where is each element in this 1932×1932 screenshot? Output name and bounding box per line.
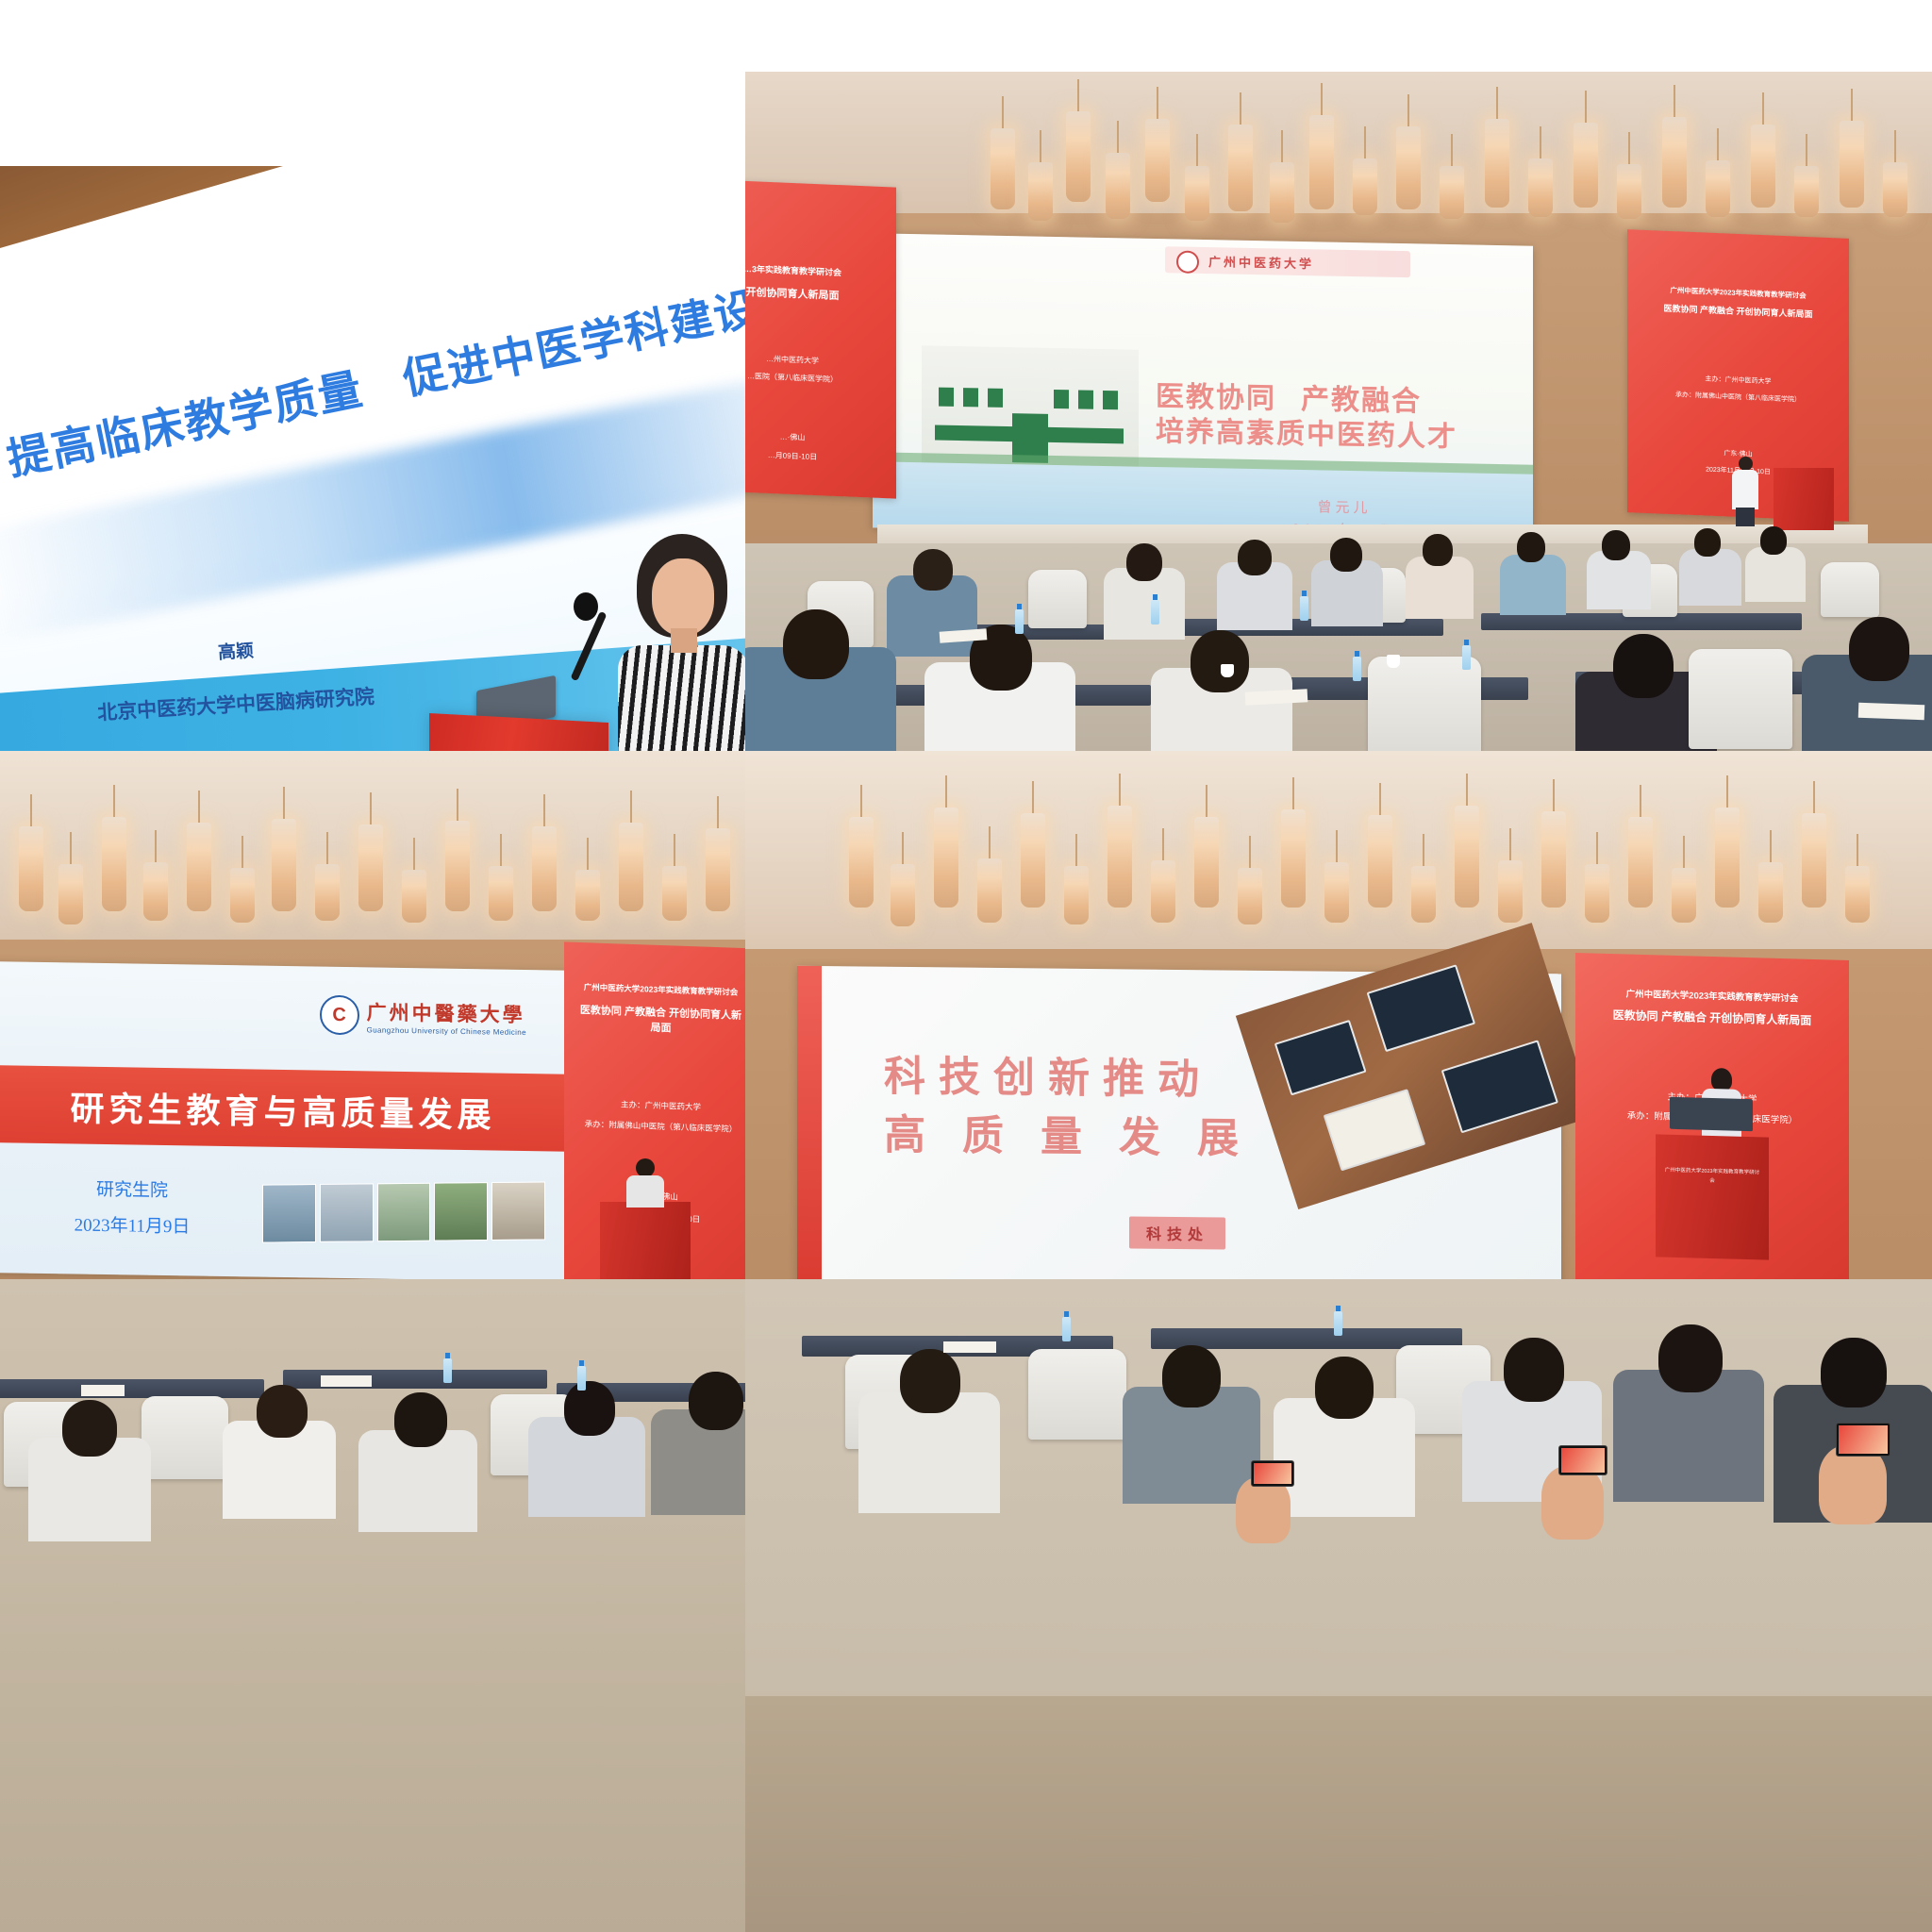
panel-bottom-right-technology-innovation: 科技创新推动 高 质 量 发 展 科技处 广州中医药大学2023年实践教育教学研… [745,751,1932,1932]
podium-red: 广州中医药大学2023年实践教育教学研讨会 [1656,1134,1769,1259]
panel-bottom-left-graduate-education: C 广州中醫藥大學 Guangzhou University of Chines… [0,751,745,1932]
podium-laptop [1670,1097,1753,1131]
left-banner-line-6: …月09日-10日 [745,447,879,465]
left-banner-line-4: …医院（第八临床医学院） [745,369,879,387]
left-banner-line-2: 开创协同育人新局面 [745,282,879,305]
left-banner-line-5: …·佛山 [745,428,879,446]
headline-line-2: 产教融合 [1301,384,1422,417]
stage-projection-screen: 广州中医药大学 医教协同产教融合 培养高素质中医药人才 曾元儿 2023年11月 [873,233,1533,540]
stage-podium [1774,468,1834,530]
banner-line-1: 广州中医药大学2023年实践教育教学研讨会 [1645,284,1831,302]
panel-top-left-lecture-slide: 提高临床教学质量促进中医学科建设 高颖 北京中医药大学中医脑病研究院 北京中医药… [0,166,745,751]
screen-logo-text: 广州中医药大学 [1208,252,1314,272]
slide-title: 研究生教育与高质量发展 [0,1080,575,1139]
banner-line-2: 医教协同 产教融合 开创协同育人新局面 [575,1002,745,1038]
audience-area [0,1279,745,1932]
banner-line-4: 承办：附属佛山中医院（第八临床医学院） [1645,389,1831,406]
presenter-figure [618,534,745,751]
presenter-striped-jacket [618,645,745,751]
raised-hand [1819,1445,1887,1524]
university-logo: C 广州中醫藥大學 Guangzhou University of Chines… [320,995,526,1038]
screen-headline: 医教协同产教融合 培养高素质中医药人才 [1156,380,1505,456]
logo-english-name: Guangzhou University of Chinese Medicine [367,1025,526,1037]
campus-thumb-1 [262,1184,316,1243]
headline-line-3: 培养高素质中医药人才 [1156,416,1457,453]
slide-title-line-2: 高 质 量 发 展 [884,1106,1252,1168]
smartphone [1251,1460,1294,1487]
slide-red-stripe [797,966,822,1296]
slide-date: 2023年11月9日 [19,1207,245,1247]
microphone-head [574,592,598,621]
slide-department: 研究生院 [19,1172,245,1211]
campus-thumbnail-strip [262,1181,545,1242]
banner-line-1: 广州中医药大学2023年实践教育教学研讨会 [1591,986,1832,1006]
smartphone [1558,1445,1607,1475]
banner-line-2: 医教协同 产教融合 开创协同育人新局面 [1591,1006,1832,1028]
panel-top-right-auditorium: 广州中医药大学 医教协同产教融合 培养高素质中医药人才 曾元儿 2023年11月 [745,72,1932,751]
logo-chinese-name: 广州中醫藥大學 [367,997,526,1028]
banner-line-2: 医教协同 产教融合 开创协同育人新局面 [1645,301,1831,321]
raised-hand [1541,1466,1604,1540]
left-banner-line-1: …3年实践教育教学研讨会 [745,260,879,280]
campus-thumb-5 [491,1181,545,1241]
banner-line-3: 主办：广州中医药大学 [575,1097,745,1114]
headline-line-1: 医教协同 [1156,381,1276,414]
stage-speaker-figure [626,1158,664,1206]
left-banner-line-3: …州中医药大学 [745,351,879,369]
university-seal-icon: C [320,995,359,1036]
slide-department-tag: 科技处 [1129,1216,1225,1249]
slide-title: 科技创新推动 高 质 量 发 展 [884,1048,1252,1168]
banner-line-1: 广州中医药大学2023年实践教育教学研讨会 [575,981,745,998]
screen-university-logo: 广州中医药大学 [1165,246,1410,277]
floor [745,1696,1932,1932]
stage-speaker-figure [1731,457,1759,525]
campus-thumb-4 [434,1182,488,1241]
banner-line-3: 主办：广州中医药大学 [1645,372,1831,389]
campus-thumb-2 [320,1183,374,1242]
presenter-neck [671,628,697,653]
audience-area [745,543,1932,751]
university-seal-icon [1176,250,1199,273]
audience-area [745,1279,1932,1932]
slide-subtext: 研究生院 2023年11月9日 [19,1172,245,1247]
raised-hand [1236,1477,1291,1543]
projection-screen: C 广州中醫藥大學 Guangzhou University of Chines… [0,961,575,1282]
left-red-banner: …3年实践教育教学研讨会 开创协同育人新局面 …州中医药大学 …医院（第八临床医… [745,178,896,498]
photo-collage: 提高临床教学质量促进中医学科建设 高颖 北京中医药大学中医脑病研究院 北京中医药… [0,0,1932,1932]
projection-screen: 科技创新推动 高 质 量 发 展 科技处 [797,966,1561,1304]
slide-title-line-1: 科技创新推动 [884,1048,1252,1110]
podium-text: 广州中医药大学2023年实践教育教学研讨会 [1665,1166,1760,1188]
smartphone [1836,1423,1890,1457]
campus-thumb-3 [377,1183,431,1242]
banner-line-4: 承办：附属佛山中医院（第八临床医学院） [575,1118,745,1135]
presenter-face [652,558,714,636]
